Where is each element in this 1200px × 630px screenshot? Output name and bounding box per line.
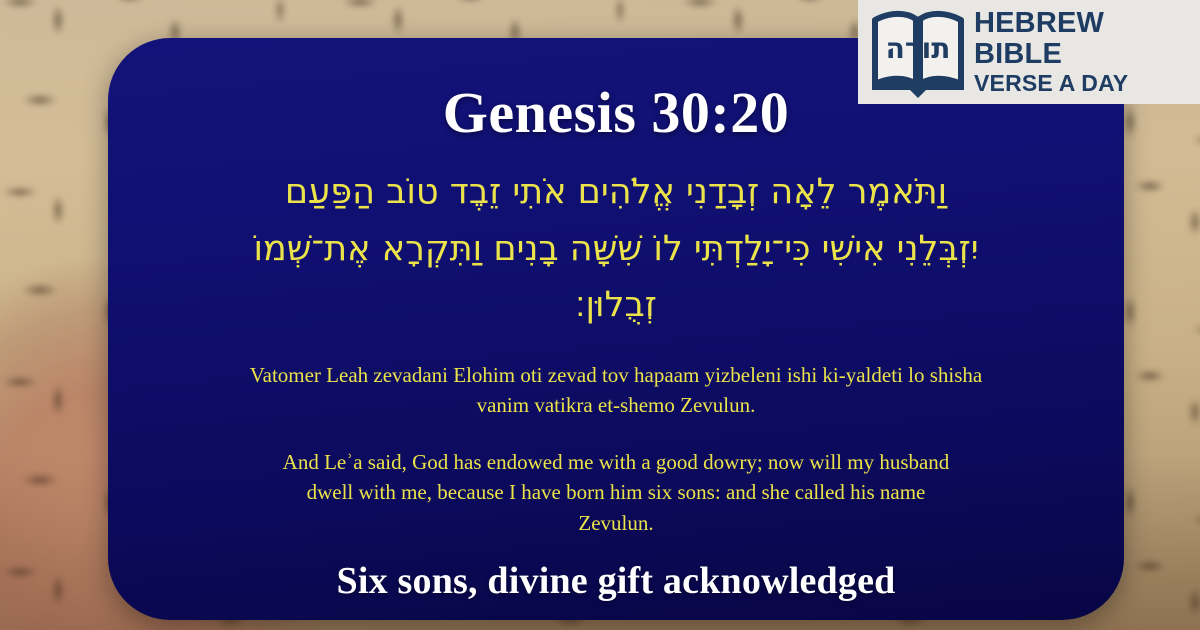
svg-text:תורה: תורה (886, 32, 951, 65)
tagline-text: Six sons, divine gift acknowledged (148, 561, 1084, 603)
brand-line-verse-a-day: VERSE A DAY (974, 72, 1128, 95)
verse-poster: Genesis 30:20 וַתֹּאמֶר לֵאָה זְבָדַנִי … (0, 0, 1200, 630)
brand-line-hebrew: HEBREW (974, 9, 1128, 38)
hebrew-verse-text: וַתֹּאמֶר לֵאָה זְבָדַנִי אֱלֹהִים אֹתִי… (186, 164, 1046, 334)
hebrew-line-2: יִזְבְּלֵנִי אִישִׁי כִּי־יָלַדְתִּי לוֹ… (186, 221, 1046, 278)
brand-logo[interactable]: תורה HEBREW BIBLE VERSE A DAY (858, 0, 1200, 104)
verse-card: Genesis 30:20 וַתֹּאמֶר לֵאָה זְבָדַנִי … (108, 38, 1124, 620)
hebrew-line-1: וַתֹּאמֶר לֵאָה זְבָדַנִי אֱלֹהִים אֹתִי… (186, 164, 1046, 221)
hebrew-line-3: זְבֻלוּן׃ (186, 277, 1046, 334)
open-book-icon: תורה (870, 6, 966, 98)
translation-text: And Leʾa said, God has endowed me with a… (276, 447, 956, 540)
transliteration-text: Vatomer Leah zevadani Elohim oti zevad t… (221, 360, 1011, 420)
brand-logo-text: HEBREW BIBLE VERSE A DAY (974, 9, 1128, 95)
brand-line-bible: BIBLE (974, 40, 1128, 69)
